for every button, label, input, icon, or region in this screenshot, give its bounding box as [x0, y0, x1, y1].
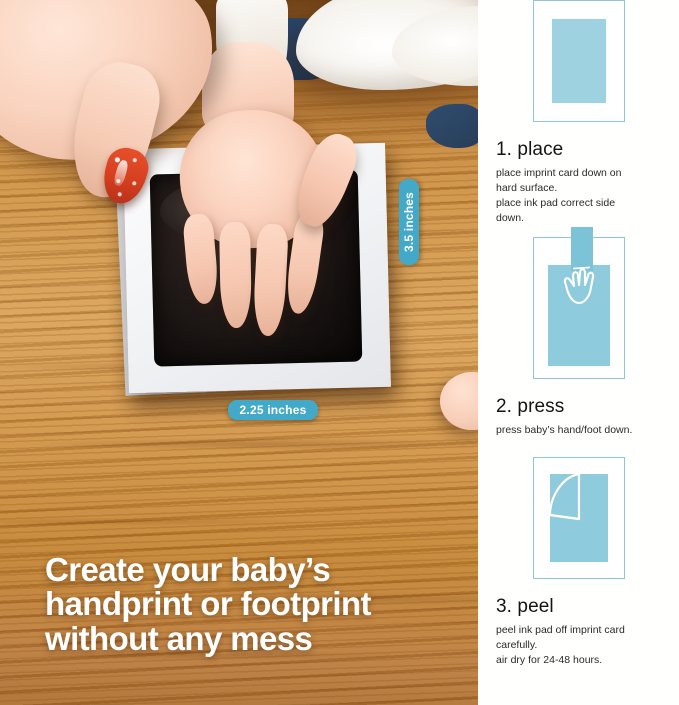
headline-line-3: without any mess [45, 622, 445, 656]
step-title: 1. place [496, 139, 679, 161]
headline-line-2: handprint or footprint [45, 587, 445, 621]
step-body: place imprint card down on hard surface.… [496, 166, 679, 226]
headline: Create your baby’s handprint or footprin… [45, 553, 445, 656]
height-measurement-badge: 3.5 inches [399, 179, 419, 265]
place-illustration-icon [533, 0, 625, 122]
step-body-line: place imprint card down on [496, 166, 673, 181]
step-body-line: air dry for 24-48 hours. [496, 653, 673, 668]
step-body-line: down. [496, 211, 673, 226]
ink-pad-fill [552, 19, 606, 103]
step-title: 2. press [496, 396, 679, 418]
step-body-line: peel ink pad off imprint card [496, 623, 673, 638]
step-peel: 3. peel peel ink pad off imprint card ca… [478, 457, 679, 668]
step-body: peel ink pad off imprint card carefully.… [496, 623, 679, 668]
adult-hand [0, 0, 264, 220]
headline-line-1: Create your baby’s [45, 553, 445, 587]
baby-hand-icon [557, 265, 607, 307]
width-measurement-badge: 2.25 inches [228, 400, 318, 420]
step-body-line: place ink pad correct side [496, 196, 673, 211]
peeling-corner-icon [533, 457, 625, 579]
instructions-panel: 1. place place imprint card down on hard… [478, 0, 679, 705]
step-body-line: hard surface. [496, 181, 673, 196]
product-infographic: 2.25 inches 3.5 inches Create your baby’… [0, 0, 679, 705]
step-place: 1. place place imprint card down on hard… [478, 0, 679, 226]
step-press: 2. press press baby’s hand/foot down. [478, 237, 679, 438]
step-title: 3. peel [496, 596, 679, 618]
product-photo: 2.25 inches 3.5 inches Create your baby’… [0, 0, 478, 705]
baby-finger-middle [219, 222, 252, 329]
step-body-line: press baby’s hand/foot down. [496, 423, 673, 438]
press-illustration-icon [533, 237, 625, 379]
peel-illustration-icon [533, 457, 625, 579]
step-body-line: carefully. [496, 638, 673, 653]
step-body: press baby’s hand/foot down. [496, 423, 679, 438]
baby-finger-ring [252, 223, 289, 336]
